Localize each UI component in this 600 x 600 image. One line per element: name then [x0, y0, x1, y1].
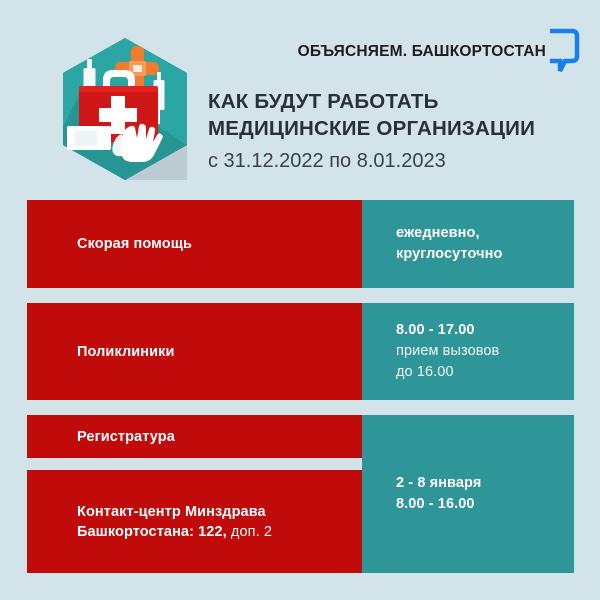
row-label: Контакт-центр Минздрава Башкортостана: 1…	[77, 502, 362, 542]
value-line: до 16.00	[396, 362, 574, 383]
table-row-value-emergency: ежедневно, круглосуточно	[362, 200, 574, 288]
value-line: 8.00 - 17.00	[396, 320, 574, 341]
row-label-line-2: Башкортостана: 122,	[77, 524, 227, 540]
table-row-label-polyclinics: Поликлиники	[27, 303, 362, 400]
row-label: Скорая помощь	[77, 234, 362, 254]
table-row-value-polyclinics: 8.00 - 17.00 прием вызовов до 16.00	[362, 303, 574, 400]
value-line: 8.00 - 16.00	[396, 494, 574, 515]
value-line: круглосуточно	[396, 244, 574, 265]
table-row-label-emergency: Скорая помощь	[27, 200, 362, 288]
row-label-extension: доп. 2	[227, 524, 272, 540]
table-row-label-registry: Регистратура	[27, 415, 362, 458]
value-line: 2 - 8 января	[396, 473, 574, 494]
row-label-line-1: Контакт-центр Минздрава	[77, 504, 266, 520]
value-line: ежедневно,	[396, 223, 574, 244]
row-label: Регистратура	[77, 427, 362, 447]
schedule-table: Скорая помощь ежедневно, круглосуточно П…	[0, 0, 600, 600]
row-label: Поликлиники	[77, 342, 362, 362]
table-row-label-contact-center: Контакт-центр Минздрава Башкортостана: 1…	[27, 470, 362, 573]
value-line: прием вызовов	[396, 341, 574, 362]
table-row-value-registry-contact-merged: 2 - 8 января 8.00 - 16.00	[362, 415, 574, 573]
